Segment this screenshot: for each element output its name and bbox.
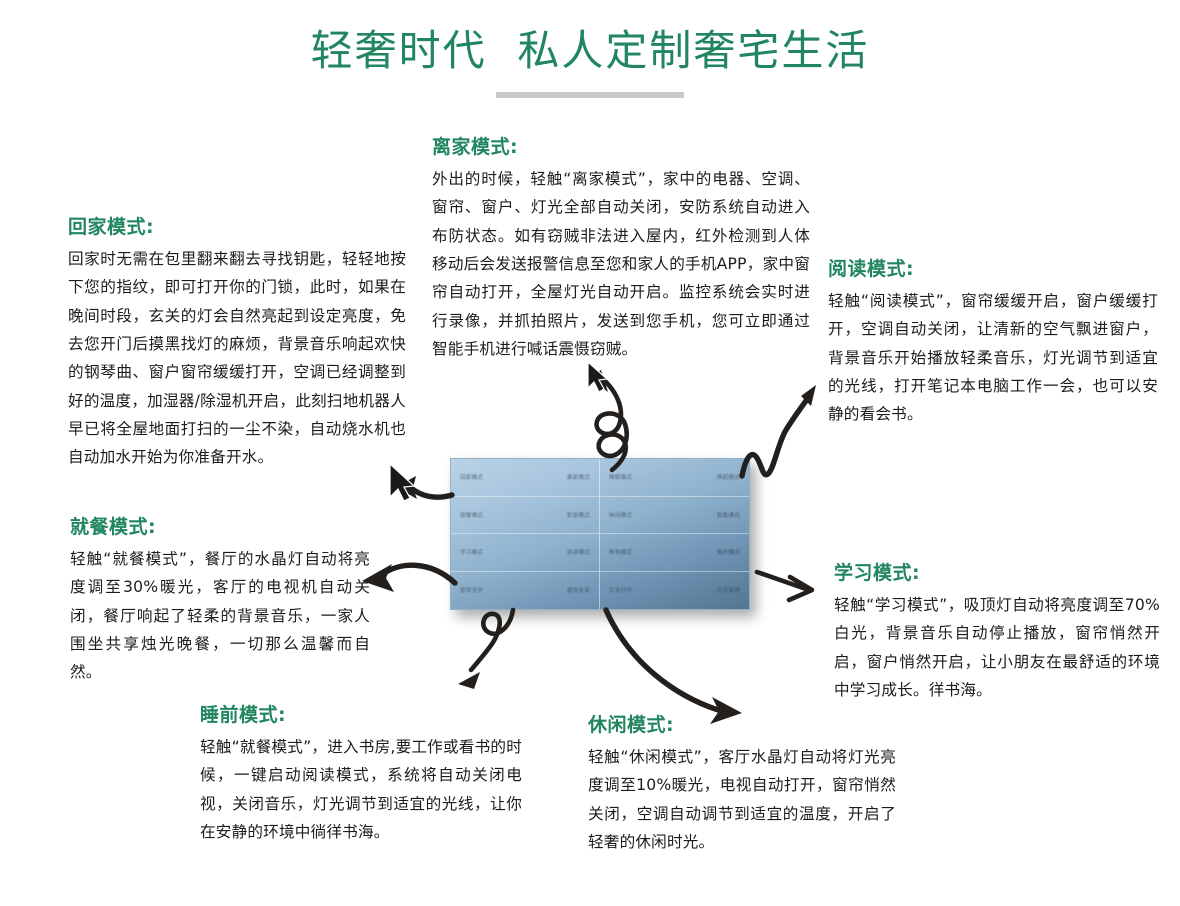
infographic-canvas: 轻奢时代 私人定制奢宅生活 回家模式: 回家时无需在包里翻来翻去寻找钥匙，轻轻地… — [0, 0, 1180, 906]
section-away-mode-body: 外出的时候，轻触“离家模式”，家中的电器、空调、窗帘、窗户、灯光全部自动关闭，安… — [432, 165, 810, 364]
arrow-to-dining-mode-icon — [362, 564, 455, 592]
panel-key[interactable]: 窗帘全关 — [525, 586, 599, 594]
section-reading-mode-heading: 阅读模式: — [828, 258, 1158, 281]
page-title: 轻奢时代 私人定制奢宅生活 — [0, 26, 1180, 76]
panel-key[interactable]: 智能通风 — [675, 511, 750, 519]
arrow-to-sleep-mode-icon — [458, 610, 513, 689]
control-panel-keypads: 回家模式 离家模式 就餐模式 影音模式 学习模式 阅读模式 窗帘全开 窗帘全关 — [451, 459, 749, 609]
arrow-to-leisure-mode-icon — [606, 610, 742, 724]
title-underline-rule — [496, 92, 684, 98]
page-title-area: 轻奢时代 私人定制奢宅生活 — [0, 26, 1180, 98]
panel-key[interactable]: 睡眠模式 — [600, 473, 675, 481]
panel-row[interactable]: 学习模式 阅读模式 — [451, 534, 599, 572]
panel-key[interactable]: 学习模式 — [451, 548, 525, 556]
section-reading-mode-body: 轻触“阅读模式”，窗帘缓缓开启，窗户缓缓打开，空调自动关闭，让清新的空气飘进窗户… — [828, 287, 1158, 429]
section-leisure-mode-body: 轻触“休闲模式”，客厅水晶灯自动将灯光亮度调至10%暖光，电视自动打开，窗帘悄然… — [588, 743, 896, 857]
panel-key[interactable]: 离家模式 — [525, 473, 599, 481]
panel-row[interactable]: 休闲模式 智能通风 — [600, 497, 749, 535]
panel-row[interactable]: 断电模式 离开模式 — [600, 534, 749, 572]
section-home-mode: 回家模式: 回家时无需在包里翻来翻去寻找钥匙，轻轻地按下您的指纹，即可打开你的门… — [68, 216, 406, 472]
section-away-mode: 离家模式: 外出的时候，轻触“离家模式”，家中的电器、空调、窗帘、窗户、灯光全部… — [432, 136, 810, 363]
arrow-to-study-mode-icon — [757, 572, 812, 600]
panel-key[interactable]: 唤起模式 — [675, 473, 750, 481]
section-home-mode-heading: 回家模式: — [68, 216, 406, 239]
panel-key[interactable]: 窗帘全开 — [451, 586, 525, 594]
section-dining-mode: 就餐模式: 轻触“就餐模式”，餐厅的水晶灯自动将亮度调至30%暖光，客厅的电视机… — [70, 516, 370, 687]
arrow-to-reading-mode-icon — [742, 385, 816, 476]
panel-row[interactable]: 睡眠模式 唤起模式 — [600, 459, 749, 497]
panel-key[interactable]: 灯光打开 — [600, 586, 675, 594]
section-study-mode-heading: 学习模式: — [834, 562, 1160, 585]
panel-row[interactable]: 灯光打开 灯光关闭 — [600, 572, 749, 610]
panel-key[interactable]: 回家模式 — [451, 473, 525, 481]
section-dining-mode-body: 轻触“就餐模式”，餐厅的水晶灯自动将亮度调至30%暖光，客厅的电视机自动关闭，餐… — [70, 545, 370, 687]
panel-key[interactable]: 灯光关闭 — [675, 586, 750, 594]
panel-row[interactable]: 就餐模式 影音模式 — [451, 497, 599, 535]
control-panel-keypad-left[interactable]: 回家模式 离家模式 就餐模式 影音模式 学习模式 阅读模式 窗帘全开 窗帘全关 — [451, 459, 600, 609]
section-leisure-mode-heading: 休闲模式: — [588, 714, 896, 737]
section-study-mode: 学习模式: 轻触“学习模式”，吸顶灯自动将亮度调至70%白光，背景音乐自动停止播… — [834, 562, 1160, 704]
section-reading-mode: 阅读模式: 轻触“阅读模式”，窗帘缓缓开启，窗户缓缓打开，空调自动关闭，让清新的… — [828, 258, 1158, 429]
panel-key[interactable]: 离开模式 — [675, 548, 750, 556]
section-home-mode-body: 回家时无需在包里翻来翻去寻找钥匙，轻轻地按下您的指纹，即可打开你的门锁，此时，如… — [68, 245, 406, 472]
section-sleep-mode-body: 轻触“就餐模式”，进入书房,要工作或看书的时候，一键启动阅读模式，系统将自动关闭… — [200, 733, 522, 847]
section-sleep-mode: 睡前模式: 轻触“就餐模式”，进入书房,要工作或看书的时候，一键启动阅读模式，系… — [200, 704, 522, 846]
panel-row[interactable]: 回家模式 离家模式 — [451, 459, 599, 497]
section-dining-mode-heading: 就餐模式: — [70, 516, 370, 539]
panel-row[interactable]: 窗帘全开 窗帘全关 — [451, 572, 599, 610]
section-leisure-mode: 休闲模式: 轻触“休闲模式”，客厅水晶灯自动将灯光亮度调至10%暖光，电视自动打… — [588, 714, 896, 856]
panel-key[interactable]: 断电模式 — [600, 548, 675, 556]
section-study-mode-body: 轻触“学习模式”，吸顶灯自动将亮度调至70%白光，背景音乐自动停止播放，窗帘悄然… — [834, 591, 1160, 705]
panel-key[interactable]: 就餐模式 — [451, 511, 525, 519]
panel-key[interactable]: 影音模式 — [525, 511, 599, 519]
panel-key[interactable]: 休闲模式 — [600, 511, 675, 519]
mouse-cursor-icon — [588, 362, 607, 392]
arrow-to-away-mode-icon — [594, 370, 627, 470]
panel-key[interactable]: 阅读模式 — [525, 548, 599, 556]
section-away-mode-heading: 离家模式: — [432, 136, 810, 159]
control-panel-keypad-right[interactable]: 睡眠模式 唤起模式 休闲模式 智能通风 断电模式 离开模式 灯光打开 灯光关闭 — [600, 459, 749, 609]
arrow-to-home-mode-icon — [396, 476, 452, 499]
section-sleep-mode-heading: 睡前模式: — [200, 704, 522, 727]
smart-home-control-panel[interactable]: 回家模式 离家模式 就餐模式 影音模式 学习模式 阅读模式 窗帘全开 窗帘全关 — [450, 458, 750, 610]
